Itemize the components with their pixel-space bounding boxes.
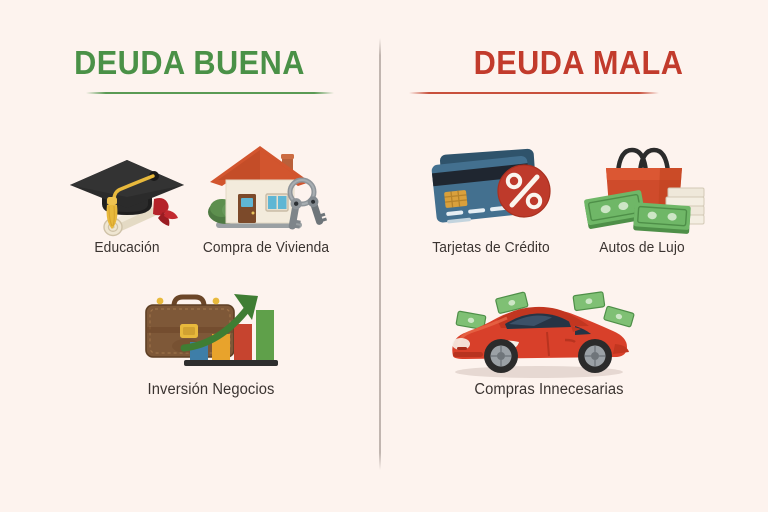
item-label-educacion: Educación (61, 240, 194, 256)
house-with-keys-icon (198, 136, 328, 236)
item-label-inversion-negocios: Inversión Negocios (125, 381, 298, 399)
briefcase-growth-chart-icon (140, 282, 282, 374)
graduation-cap-diploma-icon (62, 136, 192, 236)
item-label-compra-de-vivienda: Compra de Vivienda (197, 240, 336, 256)
item-label-autos-de-lujo: Autos de Lujo (577, 240, 706, 256)
column-bad-debt: DEUDA MALA (389, 0, 768, 512)
shopping-bag-cash-icon (574, 138, 710, 234)
item-label-compras-innecesarias: Compras Innecesarias (454, 381, 644, 399)
item-label-tarjetas-de-credito: Tarjetas de Crédito (415, 240, 567, 256)
column-good-debt: DEUDA BUENA (0, 0, 379, 512)
sports-car-flying-money-icon (439, 282, 639, 378)
bad-debt-title: DEUDA MALA (402, 44, 754, 82)
good-debt-title: DEUDA BUENA (13, 44, 365, 82)
bad-debt-title-underline (409, 92, 659, 94)
good-debt-title-underline (86, 92, 334, 94)
column-divider (379, 38, 381, 470)
credit-card-percent-icon (424, 138, 554, 234)
infographic-canvas: DEUDA BUENA (0, 0, 768, 512)
